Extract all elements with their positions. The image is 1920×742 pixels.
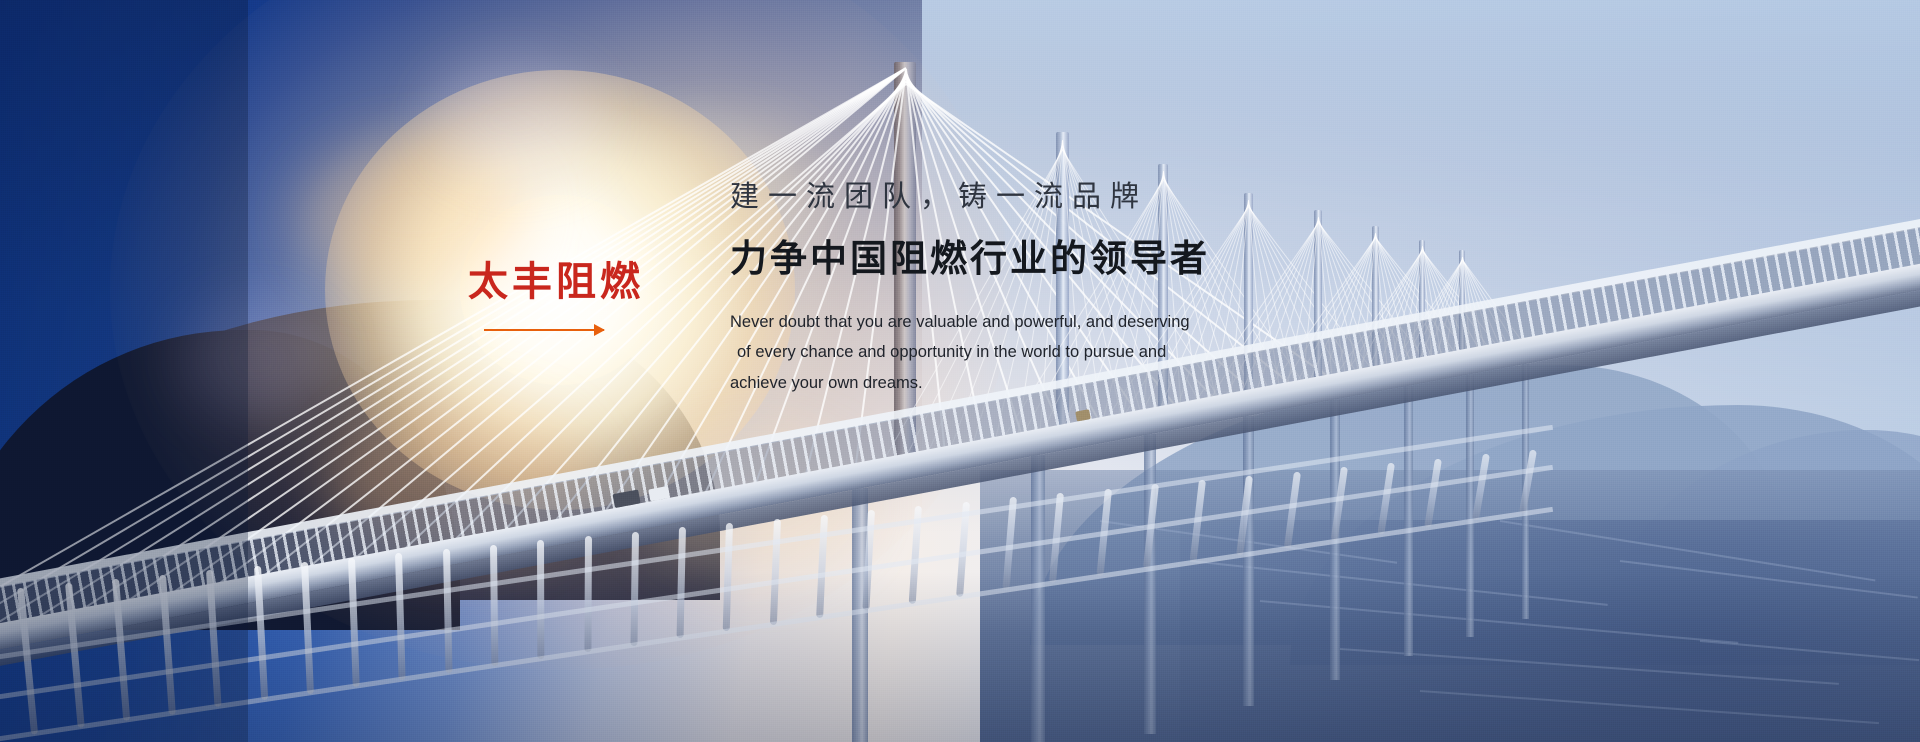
hero-paragraph: Never doubt that you are valuable and po… bbox=[730, 307, 1330, 399]
paragraph-line-1: Never doubt that you are valuable and po… bbox=[730, 307, 1330, 338]
arrow-shaft bbox=[484, 329, 604, 331]
headline-title: 力争中国阻燃行业的领导者 bbox=[730, 236, 1450, 282]
paragraph-line-3: achieve your own dreams. bbox=[730, 368, 1330, 399]
arrow-head bbox=[594, 324, 605, 336]
headline-subtitle: 建一流团队，铸一流品牌 bbox=[730, 178, 1450, 214]
hero-copy: 建一流团队，铸一流品牌 力争中国阻燃行业的领导者 Never doubt tha… bbox=[730, 178, 1450, 399]
brand-logo-text: 太丰阻燃 bbox=[466, 262, 646, 302]
paragraph-line-2: of every chance and opportunity in the w… bbox=[730, 337, 1330, 368]
hero-banner: 太丰阻燃 建一流团队，铸一流品牌 力争中国阻燃行业的领导者 Never doub… bbox=[0, 0, 1920, 742]
brand-logo[interactable]: 太丰阻燃 bbox=[466, 262, 646, 336]
logo-arrow-icon bbox=[466, 324, 646, 336]
